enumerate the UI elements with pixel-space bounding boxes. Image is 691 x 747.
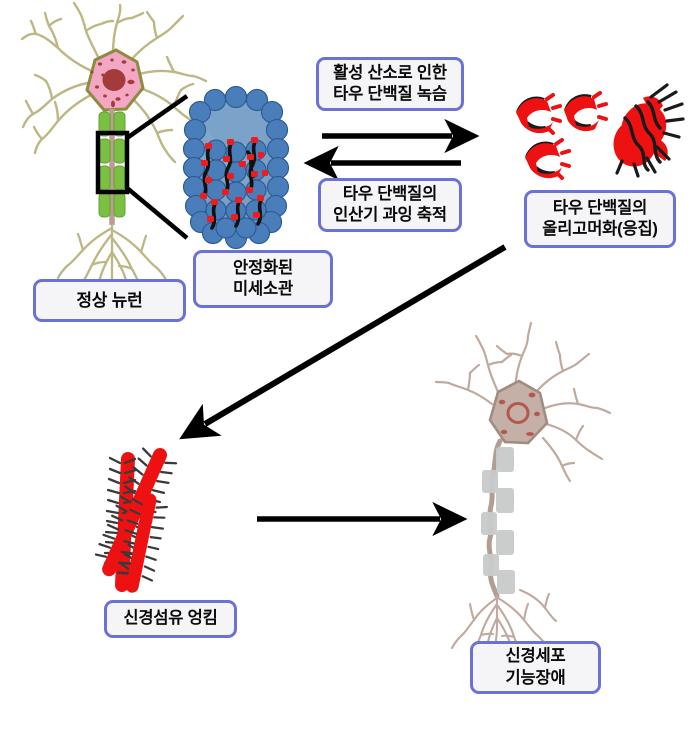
label-ros-tau-melting: 활성 산소로 인한 타우 단백질 녹슴	[316, 57, 464, 111]
label-stabilized-microtubule: 안정화된 미세소관	[193, 250, 333, 308]
label-neuronal-dysfunction: 신경세포 기능장애	[470, 641, 601, 694]
phf-filament	[92, 447, 178, 577]
axon-degenerating	[489, 441, 500, 596]
tau-strands-bound	[204, 140, 262, 228]
tau-monomer	[516, 95, 560, 133]
label-hyperphosphorylation: 타우 단백질의 인산기 과잉 축적	[318, 178, 462, 232]
tau-oligomer-figure	[516, 85, 683, 178]
myelin-fragments	[481, 447, 515, 594]
myelin-sheath-healthy	[99, 112, 125, 217]
axon-zoom-callout	[98, 96, 187, 238]
nucleus-healthy	[103, 69, 126, 91]
label-tau-oligomerization: 타우 단백질의 올리고머화(응집)	[524, 190, 676, 248]
tubulin-subunits	[184, 87, 289, 249]
phf-filament	[114, 496, 170, 590]
diagram-artwork	[0, 0, 691, 747]
soma-healthy	[87, 50, 143, 110]
tau-aggregate	[614, 85, 683, 176]
diagram-canvas: 활성 산소로 인한 타우 단백질 녹슴 타우 단백질의 인산기 과잉 축적 타우…	[0, 0, 691, 747]
microtubule-figure	[184, 87, 289, 249]
neurofibrillary-tangle-figure	[92, 447, 178, 590]
healthy-neuron-figure	[22, 3, 206, 287]
soma-degenerating	[490, 381, 547, 443]
phosphate-groups	[200, 137, 268, 222]
label-neurofibrillary-tangle: 신경섬유 엉킴	[104, 600, 237, 638]
organelles-degenerating	[499, 393, 540, 436]
degenerating-neuron-figure	[436, 323, 610, 655]
tau-monomer	[564, 93, 606, 131]
organelles-healthy	[91, 59, 135, 108]
phf-filament	[105, 458, 136, 585]
nucleus-degenerating	[508, 404, 528, 423]
label-normal-neuron: 정상 뉴런	[33, 279, 186, 322]
tau-monomer	[525, 140, 569, 178]
